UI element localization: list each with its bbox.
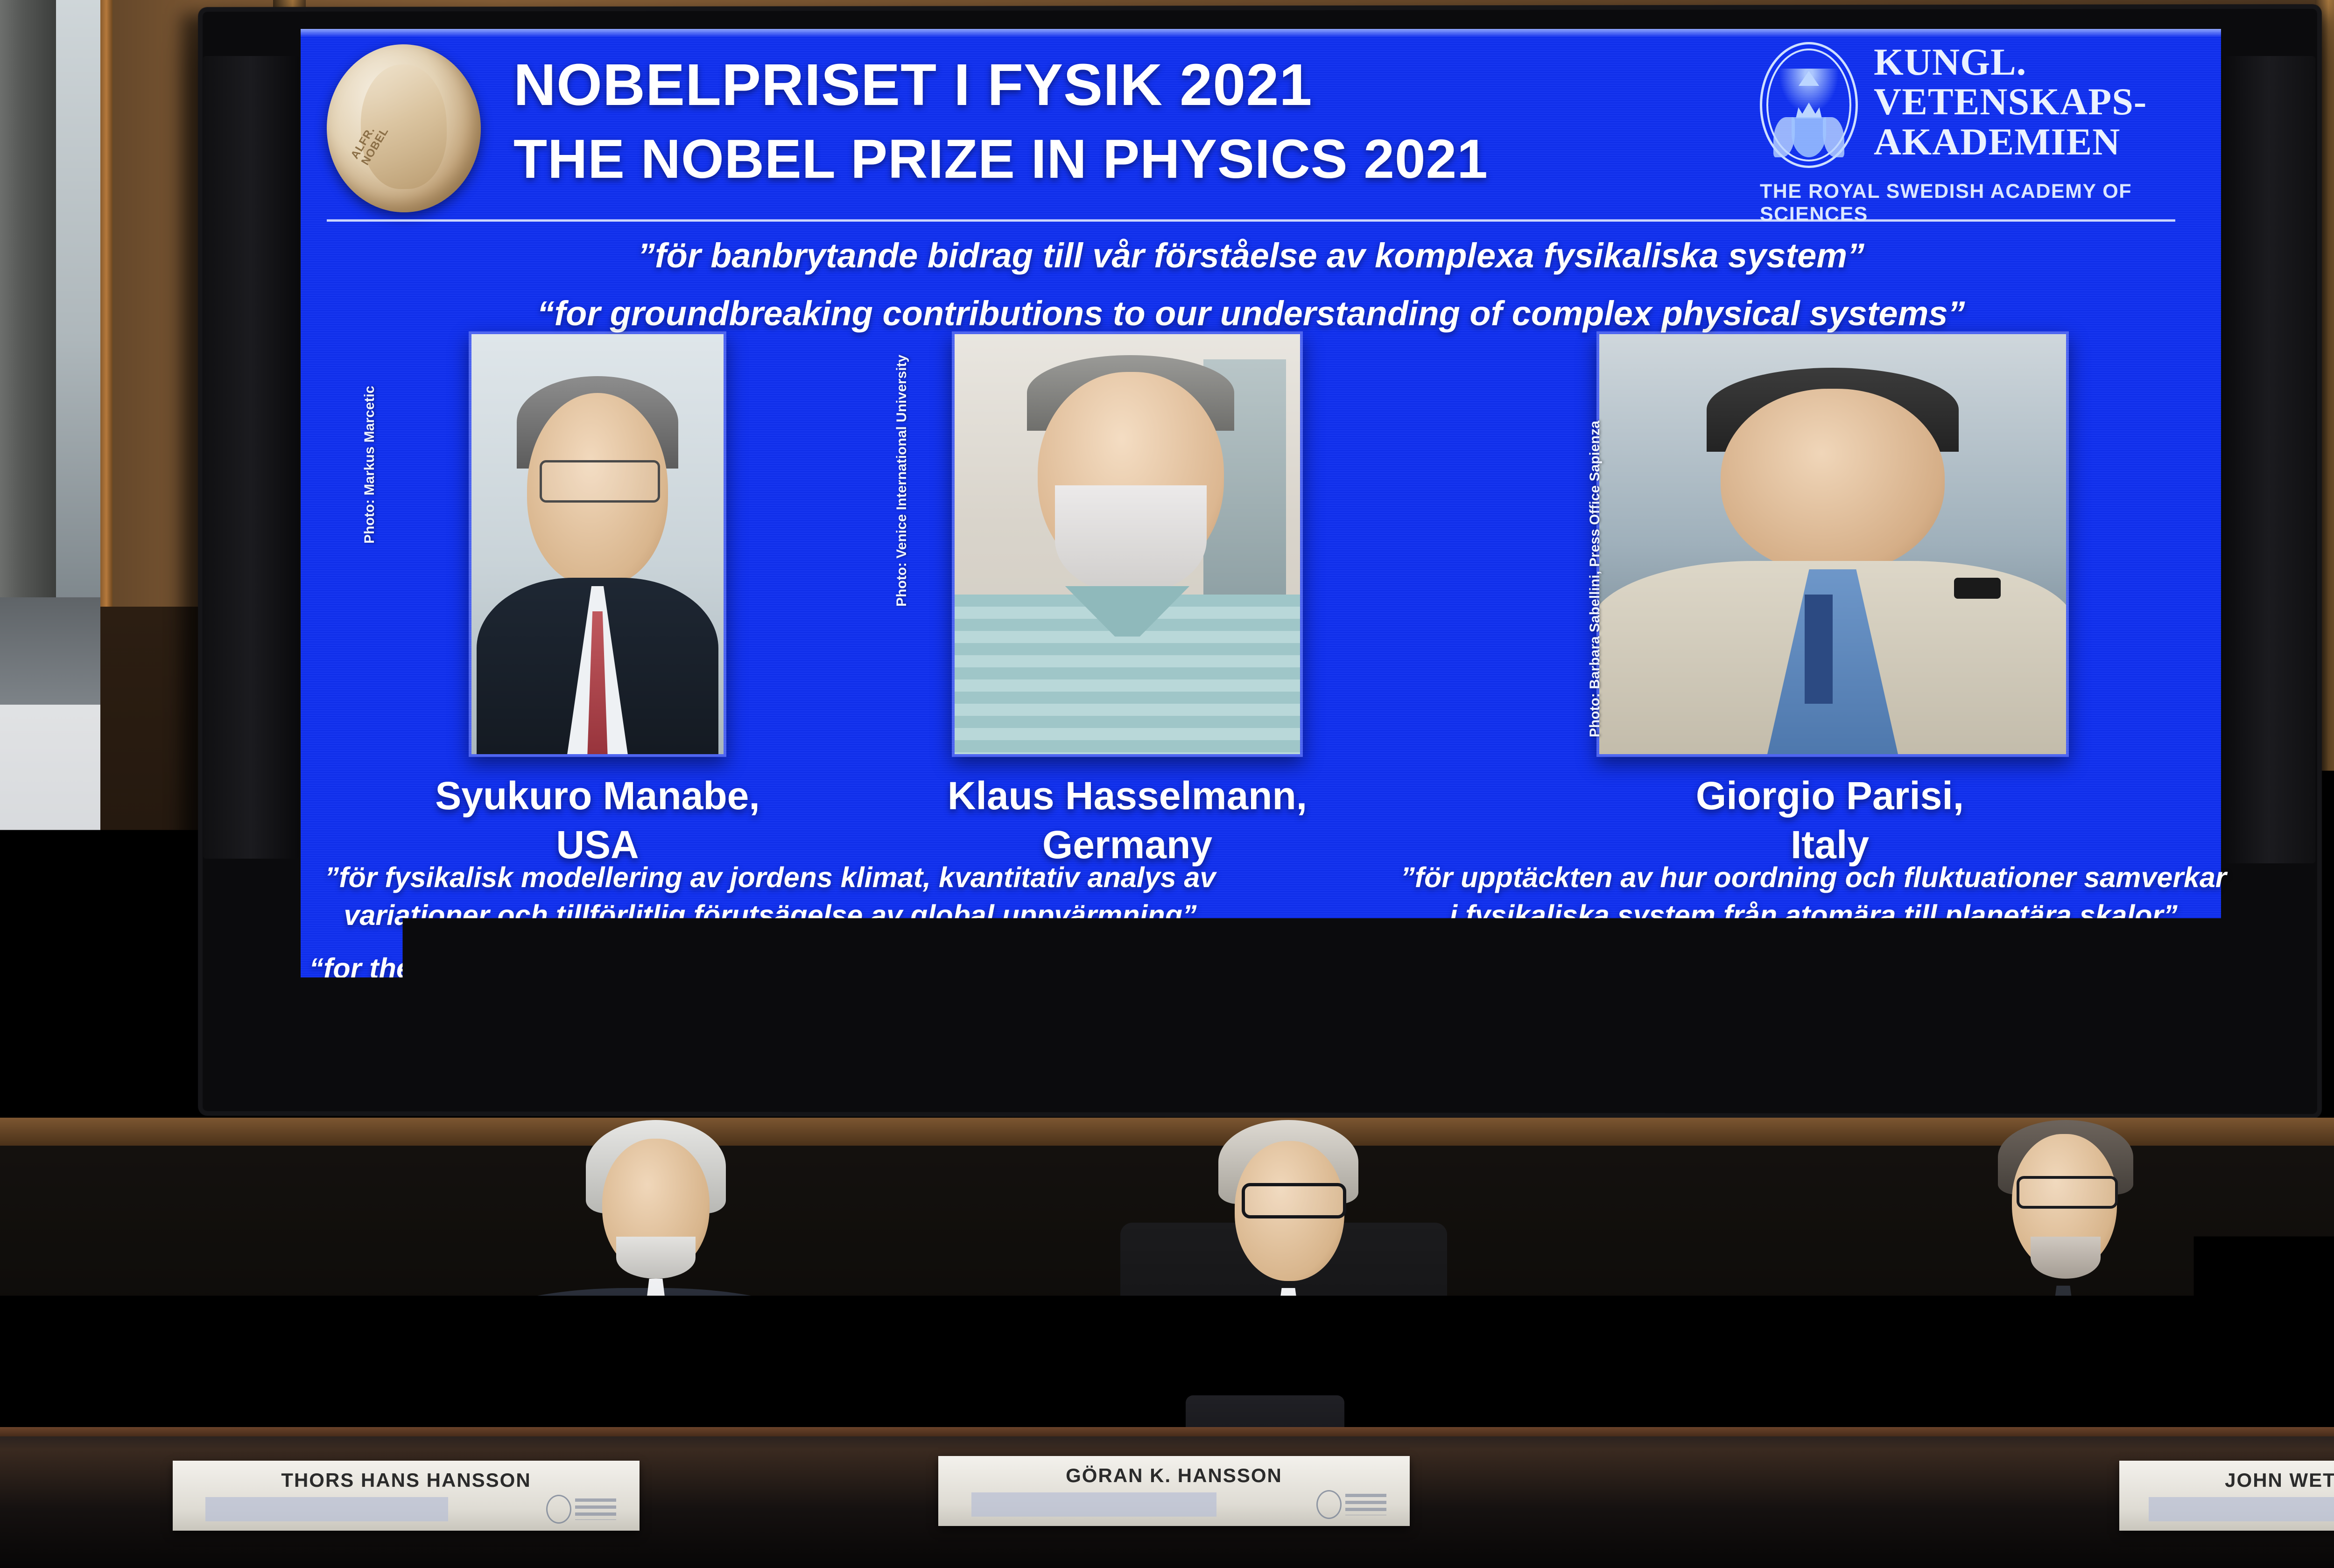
screen-top-glow xyxy=(301,29,2221,36)
citation-parisi-en-line1: “for the discovery of the interplay of d… xyxy=(1321,950,2306,987)
academy-name-line3: AKADEMIEN xyxy=(1874,122,2147,161)
nameplate-center: GÖRAN K. HANSSON xyxy=(938,1456,1410,1526)
shared-citation-swedish: ”för banbrytande bidrag till vår förståe… xyxy=(327,233,2175,278)
standing-banner-left-text: SIN xyxy=(8,910,78,1032)
academy-name-line2: VETENSKAPS- xyxy=(1874,82,2147,121)
mouse-cursor xyxy=(359,1048,370,1077)
citation-manabe-en-line1: “for the physical modelling of Earth’s c… xyxy=(224,950,1316,987)
speaker-left xyxy=(203,56,299,859)
nameplate-center-text: GÖRAN K. HANSSON xyxy=(938,1464,1410,1487)
laureate-card-hasselmann: Klaus Hasselmann, Germany xyxy=(903,331,1351,868)
laureate-name-parisi: Giorgio Parisi, xyxy=(1596,773,2063,819)
slide-title-english: THE NOBEL PRIZE IN PHYSICS 2021 xyxy=(513,127,1488,192)
nameplate-center-seal-icon xyxy=(1316,1491,1386,1519)
citation-parisi-sv-line2: i fysikaliska system från atomära till p… xyxy=(1321,896,2306,934)
nameplate-right-bar xyxy=(2149,1497,2334,1521)
laureate-name-hasselmann: Klaus Hasselmann, xyxy=(903,773,1351,819)
academy-seal-icon xyxy=(1760,42,1858,168)
laureate-photo-manabe xyxy=(469,331,726,757)
nameplate-right: JOHN WETTLAUFER xyxy=(2119,1461,2334,1531)
citation-parisi-sv-line1: ”för upptäckten av hur oordning och fluk… xyxy=(1321,859,2306,896)
nameplate-right-text: JOHN WETTLAUFER xyxy=(2119,1469,2334,1491)
slide-title-swedish: NOBELPRISET I FYSIK 2021 xyxy=(513,51,1488,119)
panelist-right-beard xyxy=(2031,1237,2101,1279)
shared-citation: ”för banbrytande bidrag till vår förståe… xyxy=(327,233,2175,336)
academy-logo: KUNGL. VETENSKAPS- AKADEMIEN THE ROYAL S… xyxy=(1760,42,2180,226)
photo-credit-hasselmann: Photo: Venice International University xyxy=(894,355,910,607)
laureate-photo-hasselmann xyxy=(952,331,1303,757)
panelist-center-glasses-icon xyxy=(1242,1183,1346,1218)
slide-divider xyxy=(327,219,2175,222)
citation-parisi-en-line2: in physical systems from atomic to plane… xyxy=(1321,987,2306,1025)
academy-name-line1: KUNGL. xyxy=(1874,42,2147,82)
laureate-photo-parisi xyxy=(1596,331,2069,757)
photo-credit-manabe: Photo: Markus Marcetic xyxy=(362,386,378,544)
speaker-right xyxy=(2222,56,2315,863)
laureate-name-manabe: Syukuro Manabe, xyxy=(373,773,822,819)
panelist-left-beard xyxy=(616,1237,696,1279)
citation-manabe-sv-line2: variationer och tillförlitlig förutsägel… xyxy=(224,896,1316,934)
citation-manabe-sv-line1: ”för fysikalisk modellering av jordens k… xyxy=(224,859,1316,896)
shared-citation-english: “for groundbreaking contributions to our… xyxy=(327,291,2175,336)
citation-parisi: ”för upptäckten av hur oordning och fluk… xyxy=(1321,859,2306,1025)
nameplate-left-seal-icon xyxy=(546,1495,616,1523)
laureate-card-manabe: Syukuro Manabe, USA xyxy=(373,331,822,868)
nameplate-left: THORS HANS HANSSON xyxy=(173,1461,640,1531)
standing-banner-left-top xyxy=(0,597,100,705)
panelist-right-glasses-icon xyxy=(2017,1176,2118,1209)
nameplate-left-text: THORS HANS HANSSON xyxy=(173,1469,640,1491)
nameplate-center-bar xyxy=(971,1492,1216,1517)
citation-manabe-en-line2: and reliably predicting global warming” xyxy=(224,987,1316,1025)
nameplate-left-bar xyxy=(205,1497,448,1521)
slide-titles: NOBELPRISET I FYSIK 2021 THE NOBEL PRIZE… xyxy=(513,51,1488,192)
laureate-card-parisi: Giorgio Parisi, Italy xyxy=(1596,331,2063,868)
stage-wood-trim xyxy=(0,1118,2334,1146)
wall-trim xyxy=(100,0,112,677)
photo-credit-parisi: Photo: Barbara Sabellini, Press Office S… xyxy=(1587,420,1603,737)
seal-star-icon xyxy=(1799,71,1819,86)
left-curtain xyxy=(0,0,56,677)
citation-manabe: ”för fysikalisk modellering av jordens k… xyxy=(224,859,1316,1025)
